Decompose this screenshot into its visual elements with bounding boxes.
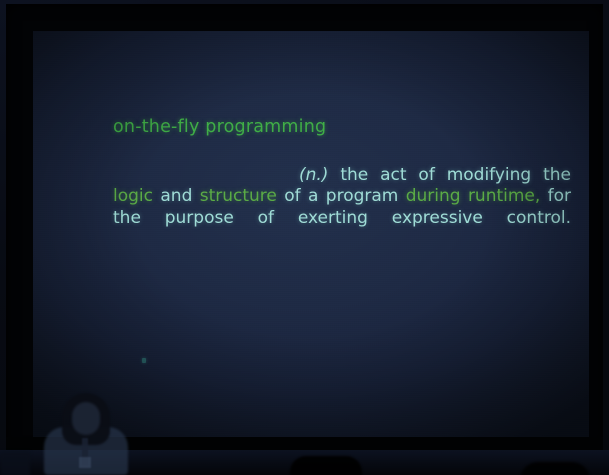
foreground-shadow-left bbox=[0, 452, 30, 475]
presenter-silhouette bbox=[34, 393, 138, 475]
presenter-badge bbox=[79, 457, 91, 468]
projector-screen-frame: on-the-fly programming (n.) the act of m… bbox=[6, 4, 603, 452]
presenter-face bbox=[72, 402, 100, 435]
foreground-silhouette-right bbox=[520, 462, 590, 475]
screen-vignette bbox=[33, 31, 589, 441]
projected-slide-photograph: on-the-fly programming (n.) the act of m… bbox=[0, 0, 609, 475]
projection-screen: on-the-fly programming (n.) the act of m… bbox=[33, 31, 589, 441]
foreground-silhouette-center bbox=[290, 456, 362, 475]
